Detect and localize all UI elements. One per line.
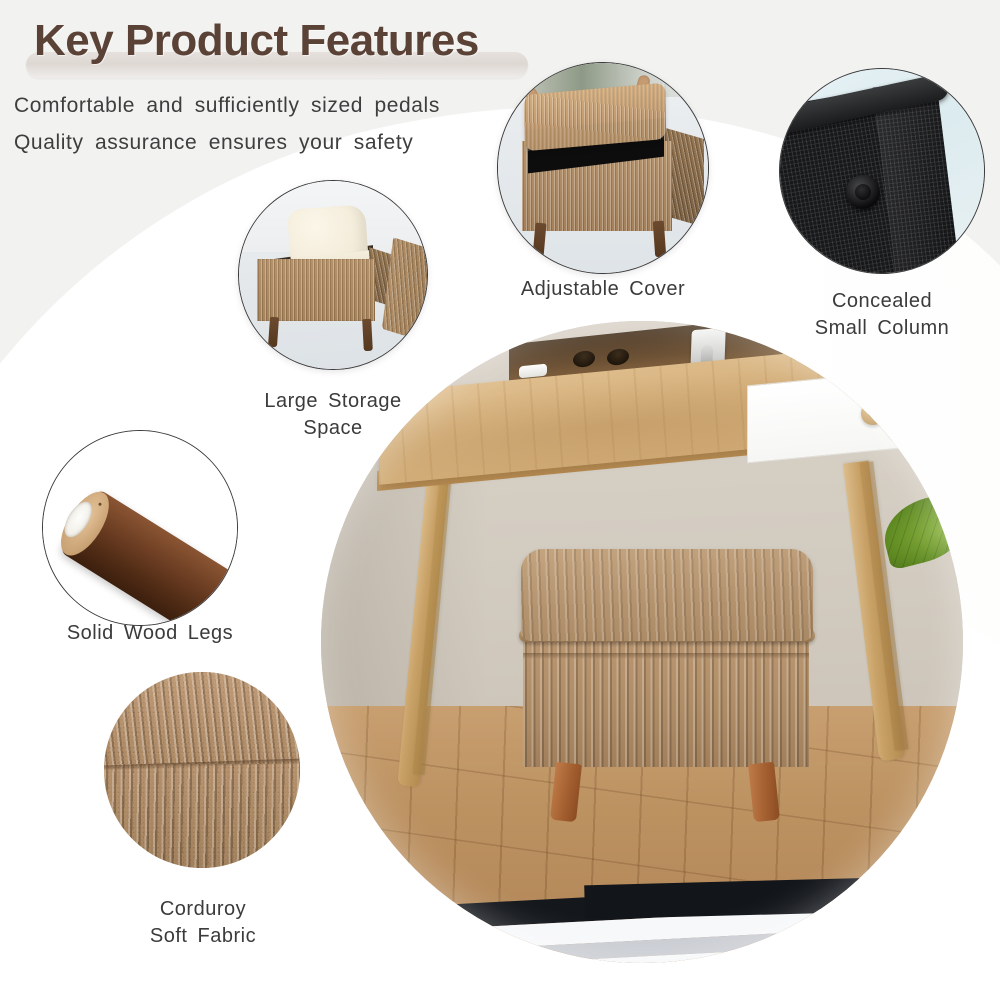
hero-ottoman-seam — [523, 653, 809, 659]
hero-ottoman-body — [523, 641, 809, 767]
inset-photo-adjustable-cover — [497, 62, 709, 274]
inset-photo-concealed-small-column — [779, 68, 985, 274]
inset-photo-corduroy-soft-fabric — [104, 672, 300, 868]
caption-adjustable-cover: Adjustable Cover — [489, 276, 717, 303]
header-block: Key Product Features — [26, 16, 546, 78]
hero-ottoman-leg-left — [550, 762, 582, 822]
subtitle-line-1: Comfortable and sufficiently sized pedal… — [14, 94, 440, 118]
hero-wall-shadow — [321, 321, 488, 725]
inset5-fabric-texture — [104, 672, 300, 868]
hero-ottoman-leg-right — [748, 762, 780, 822]
hero-ottoman-cushion-top — [521, 549, 813, 641]
inset1-ottoman-body — [257, 259, 375, 321]
page-title: Key Product Features — [34, 16, 479, 66]
inset-photo-solid-wood-legs — [42, 430, 238, 626]
subtitle-line-2: Quality assurance ensures your safety — [14, 131, 413, 155]
inset3-concealed-column-fitting — [846, 175, 880, 209]
hero-photo-desk-with-ottoman — [321, 321, 963, 963]
caption-corduroy-soft-fabric: Corduroy Soft Fabric — [100, 896, 306, 950]
hero-storage-ottoman — [507, 549, 819, 849]
caption-solid-wood-legs: Solid Wood Legs — [20, 620, 280, 647]
infographic-canvas: Key Product Features Comfortable and suf… — [0, 0, 1000, 1000]
